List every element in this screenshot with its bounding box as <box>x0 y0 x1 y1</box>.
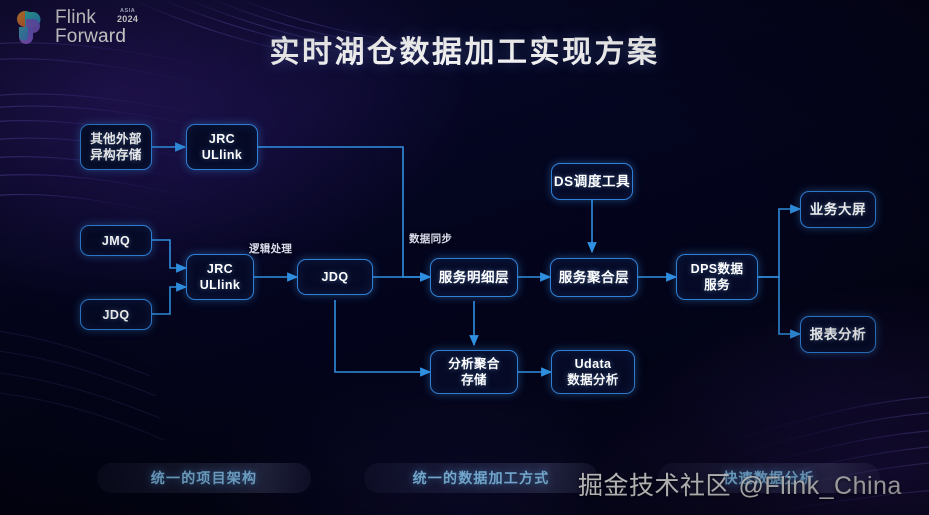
node-analysis-aggregation-storage-line1: 分析聚合 <box>448 356 500 372</box>
node-ext-storage-line2: 异构存储 <box>90 147 142 163</box>
node-service-aggregation-layer[interactable]: 服务聚合层 <box>550 258 638 297</box>
node-ext-storage[interactable]: 其他外部 异构存储 <box>80 124 152 170</box>
footer-pill-unified-data-processing: 统一的数据加工方式 <box>364 463 598 493</box>
node-jdq-source[interactable]: JDQ <box>80 299 152 330</box>
node-udata-analysis-line1: Udata <box>575 356 612 372</box>
node-ds-scheduler-label: DS调度工具 <box>554 173 630 190</box>
node-dps-data-service[interactable]: DPS数据 服务 <box>676 254 758 300</box>
node-report-analysis[interactable]: 报表分析 <box>800 316 876 353</box>
node-udata-analysis-line2: 数据分析 <box>567 372 619 388</box>
footer-pill-unified-project-architecture-label: 统一的项目架构 <box>151 468 257 488</box>
slide-canvas: Flink Forward ASIA 2024 实时湖仓数据加工实现方案 <box>0 0 929 515</box>
node-service-detail-layer-label: 服务明细层 <box>439 269 510 286</box>
node-service-aggregation-layer-label: 服务聚合层 <box>559 269 630 286</box>
node-jrc-ullink-mid-line2: ULlink <box>200 277 241 293</box>
node-report-analysis-label: 报表分析 <box>810 326 866 343</box>
node-jmq[interactable]: JMQ <box>80 225 152 256</box>
edge-label-logic-processing: 逻辑处理 <box>249 241 292 256</box>
node-jdq-process-label: JDQ <box>322 269 349 285</box>
edge-label-data-sync: 数据同步 <box>409 231 452 246</box>
node-jdq-process[interactable]: JDQ <box>297 259 373 295</box>
node-jrc-ullink-top-line2: ULlink <box>202 147 243 163</box>
footer-pill-unified-data-processing-label: 统一的数据加工方式 <box>413 468 550 488</box>
node-jmq-label: JMQ <box>102 233 130 249</box>
node-business-dashboard[interactable]: 业务大屏 <box>800 191 876 228</box>
watermark: 掘金技术社区 @Flink_China <box>578 466 902 502</box>
node-dps-data-service-line2: 服务 <box>704 277 730 293</box>
node-udata-analysis[interactable]: Udata 数据分析 <box>551 350 635 394</box>
node-ext-storage-line1: 其他外部 <box>90 131 142 147</box>
architecture-diagram: 其他外部 异构存储 JRC ULlink JMQ JDQ JRC ULlink … <box>0 0 929 515</box>
node-jrc-ullink-top[interactable]: JRC ULlink <box>186 124 258 170</box>
node-business-dashboard-label: 业务大屏 <box>810 201 866 218</box>
node-ds-scheduler[interactable]: DS调度工具 <box>551 163 633 200</box>
node-jrc-ullink-top-line1: JRC <box>209 131 235 147</box>
node-analysis-aggregation-storage-line2: 存储 <box>461 372 487 388</box>
node-analysis-aggregation-storage[interactable]: 分析聚合 存储 <box>430 350 518 394</box>
node-service-detail-layer[interactable]: 服务明细层 <box>430 258 518 297</box>
node-jrc-ullink-mid-line1: JRC <box>207 261 233 277</box>
node-jdq-source-label: JDQ <box>103 307 130 323</box>
footer-pill-unified-project-architecture: 统一的项目架构 <box>97 463 311 493</box>
node-dps-data-service-line1: DPS数据 <box>691 261 744 277</box>
node-jrc-ullink-mid[interactable]: JRC ULlink <box>186 254 254 300</box>
